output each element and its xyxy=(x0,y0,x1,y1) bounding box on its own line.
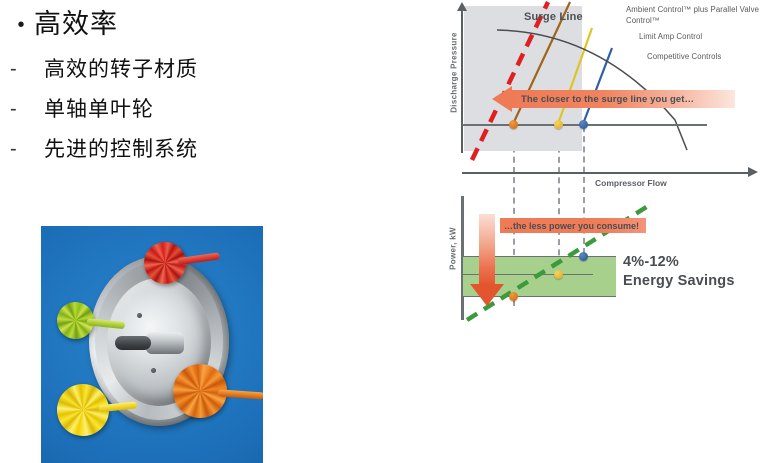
power-point-blue xyxy=(579,252,588,261)
bullet-main-label: 高效率 xyxy=(34,5,118,45)
dash-marker-icon: - xyxy=(8,52,44,86)
x-axis-arrow-icon xyxy=(748,167,758,177)
bullet-list: • 高效率 - 高效的转子材质 - 单轴单叶轮 - 先进的控制系统 xyxy=(0,0,430,210)
annotation-text: The closer to the surge line you get… xyxy=(521,92,736,108)
surge-line-label: Surge Line xyxy=(524,11,583,23)
gear-hub xyxy=(146,332,184,354)
power-annotation-text: …the less power you consume! xyxy=(504,219,654,233)
gear-bolt-icon xyxy=(151,368,156,373)
bullet-sub-label: 高效的转子材质 xyxy=(44,52,198,86)
x-axis-line xyxy=(462,172,750,174)
limit-amp-control-series xyxy=(558,28,592,124)
power-point-orange xyxy=(509,292,518,301)
power-reduction-arrow-stem xyxy=(479,214,495,286)
competitive-controls-series xyxy=(583,48,612,124)
energy-savings-percent: 4%-12% xyxy=(623,253,735,272)
green-impeller xyxy=(55,300,96,341)
bullet-item-main: • 高效率 xyxy=(8,5,118,45)
gear-shaft xyxy=(115,336,151,350)
energy-savings-callout: 4%-12% Energy Savings xyxy=(623,253,735,291)
chart-group: Discharge Pressure Compressor Flow S xyxy=(440,0,779,330)
annotation-arrow-icon xyxy=(492,86,512,112)
energy-savings-label: Energy Savings xyxy=(623,272,735,291)
legend-limit-amp-control: Limit Amp Control xyxy=(639,31,702,42)
gear-bolt-icon xyxy=(137,313,142,318)
compressor-map-chart: Discharge Pressure Compressor Flow S xyxy=(440,0,779,185)
power-point-yellow xyxy=(554,270,563,279)
bullet-sub-label: 单轴单叶轮 xyxy=(44,92,154,126)
operating-point-orange xyxy=(509,120,518,129)
surge-line-series xyxy=(472,2,548,160)
bullet-sub-label: 先进的控制系统 xyxy=(44,132,198,166)
operating-point-yellow xyxy=(554,120,563,129)
bullet-item-sub-1: - 单轴单叶轮 xyxy=(8,92,154,126)
power-consumption-chart: Power, kW …the less power you consume! 4… xyxy=(440,196,779,330)
operating-point-blue xyxy=(579,120,588,129)
dash-marker-icon: - xyxy=(8,132,44,166)
bullet-item-sub-0: - 高效的转子材质 xyxy=(8,52,198,86)
slide-canvas: • 高效率 - 高效的转子材质 - 单轴单叶轮 - 先进的控制系统 xyxy=(0,0,779,463)
power-reduction-arrow-icon xyxy=(470,284,504,306)
bull-gear-with-four-impellers-photo xyxy=(41,226,263,463)
dash-marker-icon: - xyxy=(8,92,44,126)
legend-ambient-parallel-valve: Ambient Control™ plus Parallel Valve Con… xyxy=(626,4,778,26)
yellow-impeller xyxy=(54,381,111,438)
legend-competitive-controls: Competitive Controls xyxy=(647,51,721,62)
red-impeller xyxy=(141,239,188,286)
bullet-item-sub-2: - 先进的控制系统 xyxy=(8,132,198,166)
x-axis-label: Compressor Flow xyxy=(595,178,667,188)
bullet-marker-icon: • xyxy=(8,5,34,45)
orange-impeller xyxy=(171,362,229,420)
